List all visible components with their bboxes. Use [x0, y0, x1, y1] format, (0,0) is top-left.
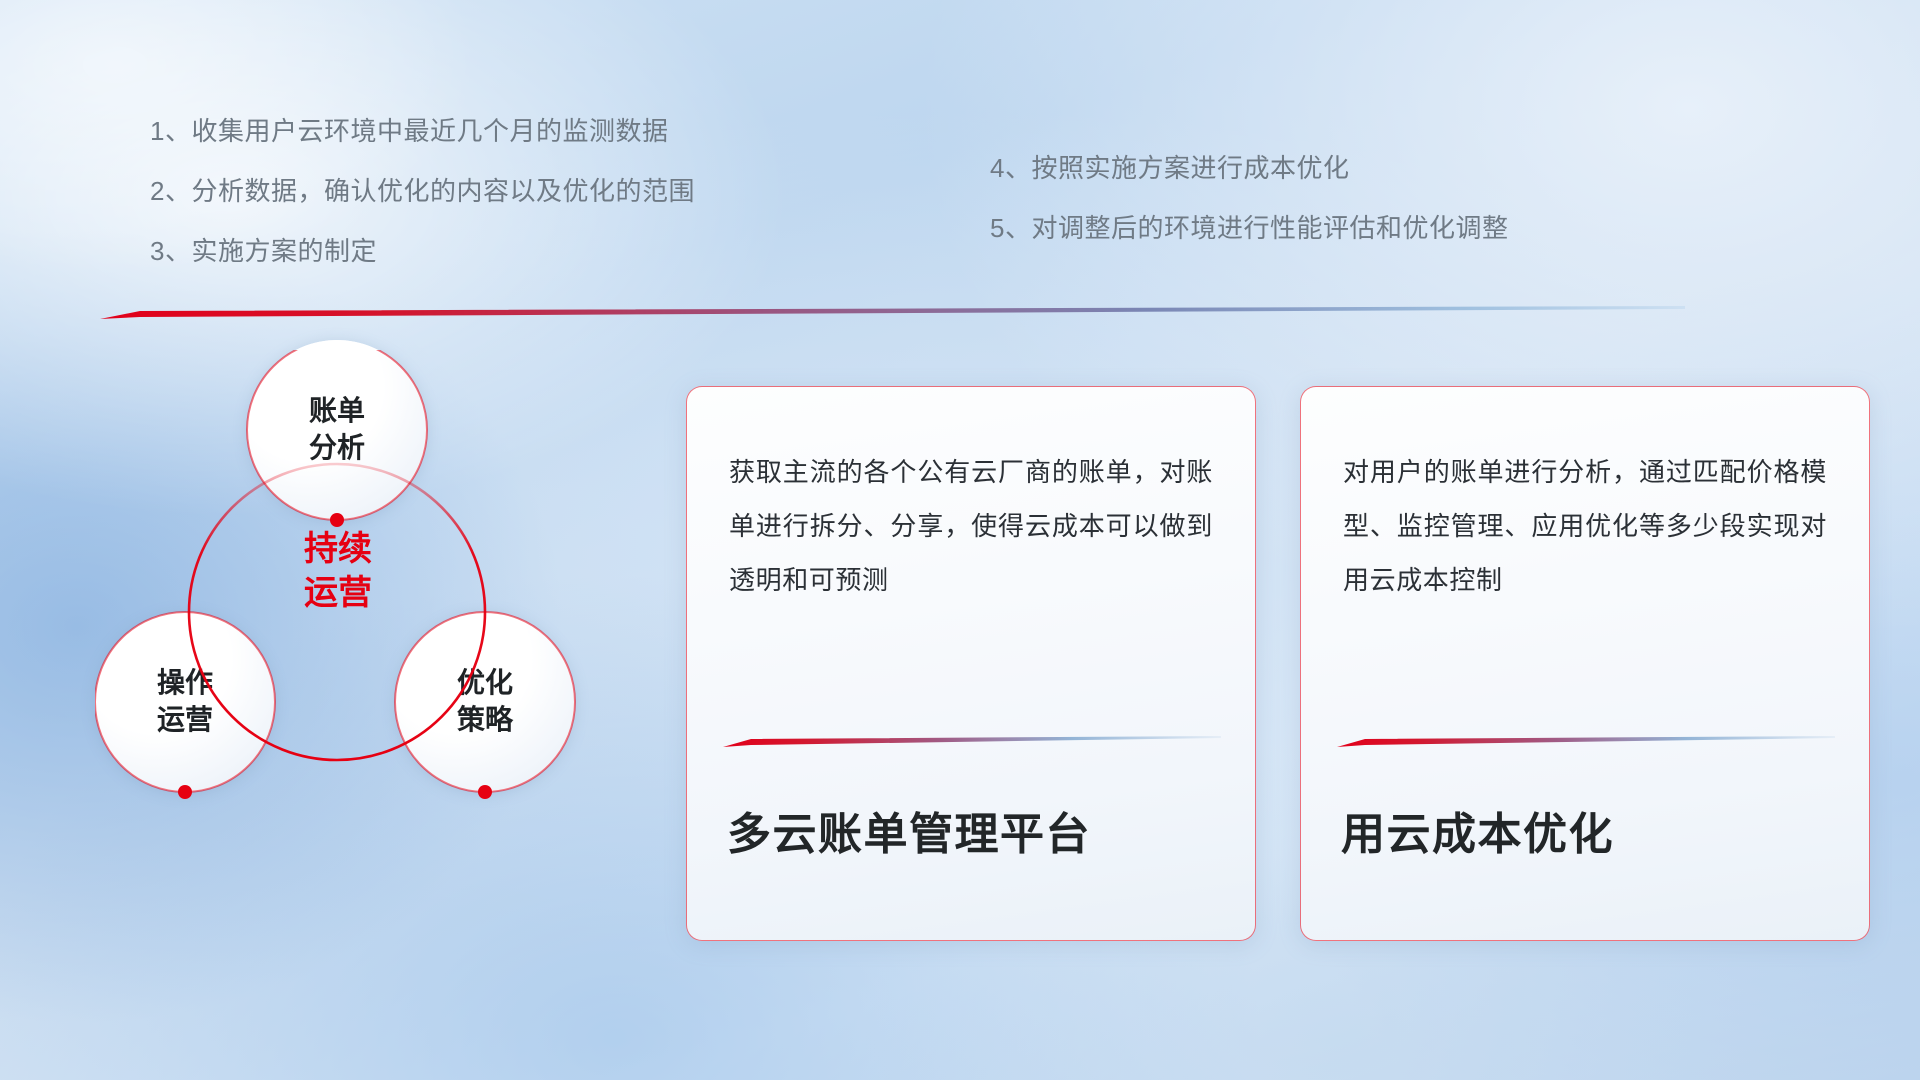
bubble-label: 操作 运营 — [157, 665, 213, 739]
card-body-text: 获取主流的各个公有云厂商的账单，对账单进行拆分、分享，使得云成本可以做到透明和可… — [687, 387, 1255, 607]
step-item: 2、分析数据，确认优化的内容以及优化的范围 — [150, 178, 695, 204]
feature-card-multicloud-billing[interactable]: 获取主流的各个公有云厂商的账单，对账单进行拆分、分享，使得云成本可以做到透明和可… — [686, 386, 1256, 941]
feature-card-cost-optimization[interactable]: 对用户的账单进行分析，通过匹配价格模型、监控管理、应用优化等多少段实现对用云成本… — [1300, 386, 1870, 941]
step-item: 3、实施方案的制定 — [150, 238, 695, 264]
step-item: 4、按照实施方案进行成本优化 — [990, 155, 1508, 181]
card-body-text: 对用户的账单进行分析，通过匹配价格模型、监控管理、应用优化等多少段实现对用云成本… — [1301, 387, 1869, 607]
bubble-billing-analysis[interactable]: 账单 分析 — [247, 340, 427, 520]
card-accent-rule — [723, 736, 1221, 748]
bubble-optimization-strategy[interactable]: 优化 策略 — [395, 612, 575, 792]
bubble-operations[interactable]: 操作 运营 — [95, 612, 275, 792]
venn-diagram: 账单 分析 操作 运营 优化 策略 持续 运营 — [95, 350, 635, 850]
bubble-label: 账单 分析 — [309, 393, 365, 467]
card-title: 用云成本优化 — [1341, 798, 1614, 862]
diagram-center-label: 持续 运营 — [263, 528, 413, 615]
section-divider — [100, 306, 1685, 320]
card-accent-rule — [1337, 736, 1835, 748]
step-item: 5、对调整后的环境进行性能评估和优化调整 — [990, 215, 1508, 241]
bubble-label: 优化 策略 — [457, 665, 513, 739]
steps-left-column: 1、收集用户云环境中最近几个月的监测数据 2、分析数据，确认优化的内容以及优化的… — [150, 118, 695, 264]
steps-right-column: 4、按照实施方案进行成本优化 5、对调整后的环境进行性能评估和优化调整 — [990, 155, 1508, 241]
slide-canvas: 1、收集用户云环境中最近几个月的监测数据 2、分析数据，确认优化的内容以及优化的… — [0, 0, 1920, 1080]
step-item: 1、收集用户云环境中最近几个月的监测数据 — [150, 118, 695, 144]
card-title: 多云账单管理平台 — [727, 798, 1091, 862]
